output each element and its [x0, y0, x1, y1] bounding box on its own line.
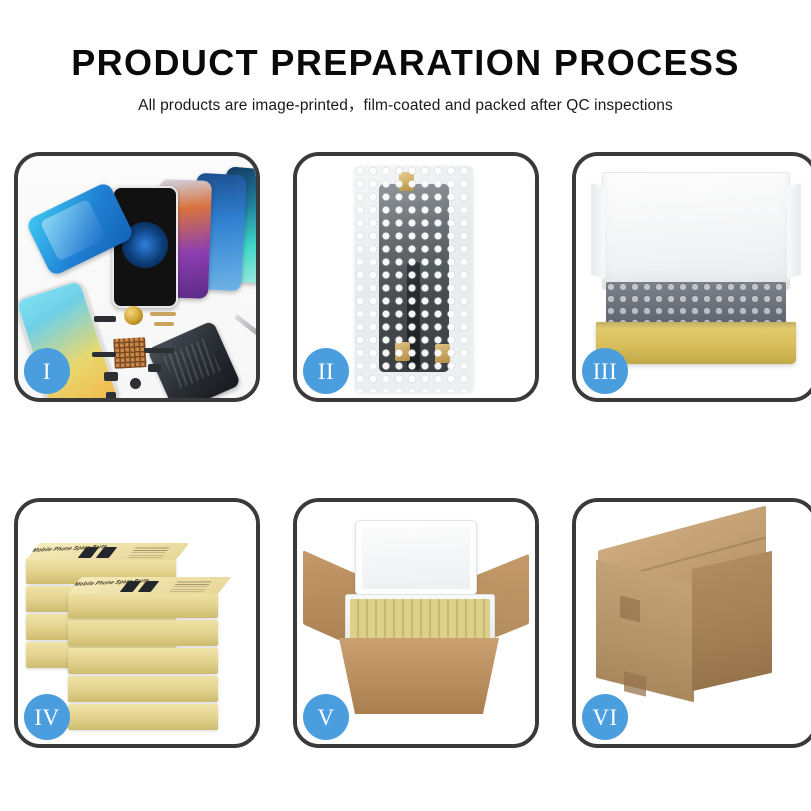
flex-cable-1	[150, 312, 176, 316]
process-step-6: VI	[572, 498, 811, 748]
flex-cable-4	[144, 348, 174, 353]
carton-side-face	[692, 551, 772, 691]
stacked-box-7	[68, 648, 218, 674]
carton-tape-upper	[620, 596, 640, 623]
header: PRODUCT PREPARATION PROCESS All products…	[0, 0, 811, 115]
process-step-1: I	[14, 152, 260, 402]
bubble-wrap-bag	[355, 166, 473, 392]
kraft-box-base	[596, 322, 796, 364]
box-lid-open	[602, 172, 790, 290]
small-component-4	[106, 392, 116, 398]
phone-front-glass	[112, 186, 178, 308]
step-badge-4: IV	[24, 694, 70, 740]
tweezers-tool	[234, 314, 256, 339]
foam-lid	[355, 520, 477, 596]
product-preparation-infographic: PRODUCT PREPARATION PROCESS All products…	[0, 0, 811, 811]
bubble-texture	[355, 166, 473, 392]
stacked-box-8	[68, 676, 218, 702]
step-badge-6: VI	[582, 694, 628, 740]
small-component-1	[94, 316, 116, 322]
page-title: PRODUCT PREPARATION PROCESS	[0, 44, 811, 82]
stacked-box-6	[68, 620, 218, 646]
page-subtitle: All products are image-printed，film-coat…	[0, 93, 811, 115]
copper-mesh-part	[113, 337, 147, 369]
stacked-box-9	[68, 704, 218, 730]
boxes-inside-carton	[345, 594, 495, 644]
process-step-grid: I II III	[14, 152, 798, 752]
step-badge-2: II	[303, 348, 349, 394]
step-badge-5: V	[303, 694, 349, 740]
process-step-4: Mobile Phone Spare Parts Mobile Phone Sp…	[14, 498, 260, 748]
flex-cable-2	[154, 322, 174, 326]
stacked-box-5: Mobile Phone Spare Parts	[68, 592, 218, 618]
flex-cable-3	[92, 352, 116, 357]
vibration-motor-part	[124, 306, 143, 325]
small-component-3	[148, 364, 161, 372]
small-component-2	[104, 372, 118, 381]
bubble-wrapped-contents	[606, 282, 786, 326]
step-badge-3: III	[582, 348, 628, 394]
carton-base	[339, 638, 499, 714]
process-step-2: II	[293, 152, 539, 402]
carton-tape-lower	[624, 671, 646, 696]
speaker-part	[130, 378, 141, 389]
process-step-3: III	[572, 152, 811, 402]
phone-chassis	[147, 320, 241, 398]
step-badge-1: I	[24, 348, 70, 394]
process-step-5: V	[293, 498, 539, 748]
